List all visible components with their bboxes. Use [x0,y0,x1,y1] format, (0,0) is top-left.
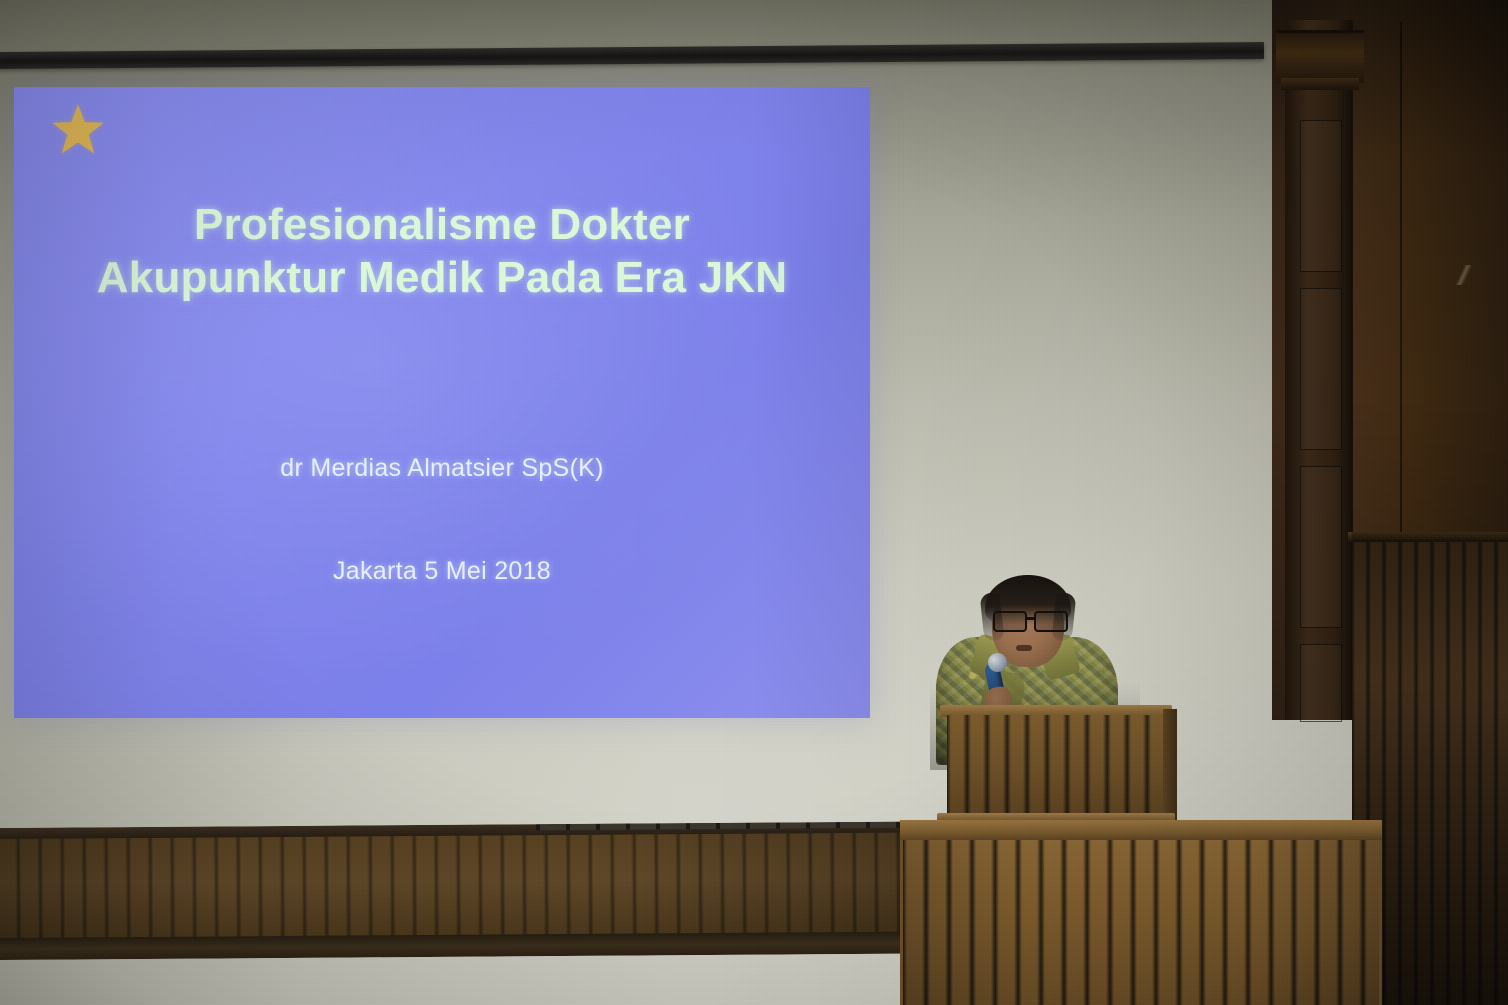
presentation-photo-scene: Profesionalisme Dokter Akupunktur Medik … [0,0,1508,1005]
stage-top-moulding [900,820,1382,840]
eyeglass-lens-right [1034,611,1068,632]
slide-place-date: Jakarta 5 Mei 2018 [14,557,870,586]
slide-author: dr Merdias Almatsier SpS(K) [14,454,870,483]
pilaster-capital [1276,30,1364,83]
eyeglass-lens-left [993,611,1027,632]
eyeglasses-icon [990,611,1068,628]
pilaster-panel [1300,120,1342,272]
lectern-slats [947,715,1165,815]
wall-wainscot-panel [0,822,909,960]
pilaster-panel [1300,288,1342,450]
projector-glow [14,87,870,718]
slide-title-line-1: Profesionalisme Dokter [28,199,856,252]
pilaster-panel [1300,466,1342,628]
lectern [945,705,1167,833]
wood-wall-light-reflection [1452,265,1474,285]
slide-title-line-2: Akupunktur Medik Pada Era JKN [28,252,856,305]
slide-title: Profesionalisme Dokter Akupunktur Medik … [14,199,870,305]
pilaster-capital-band [1281,78,1359,90]
wainscot-slats [0,833,909,939]
star-icon [50,102,106,158]
slide-edge-shading [14,87,870,718]
lectern-side [1163,709,1177,821]
pilaster-panel [1300,644,1342,722]
projected-slide: Profesionalisme Dokter Akupunktur Medik … [14,87,870,718]
stage-front-slats [903,840,1379,1005]
speaker-mouth [1016,645,1032,651]
